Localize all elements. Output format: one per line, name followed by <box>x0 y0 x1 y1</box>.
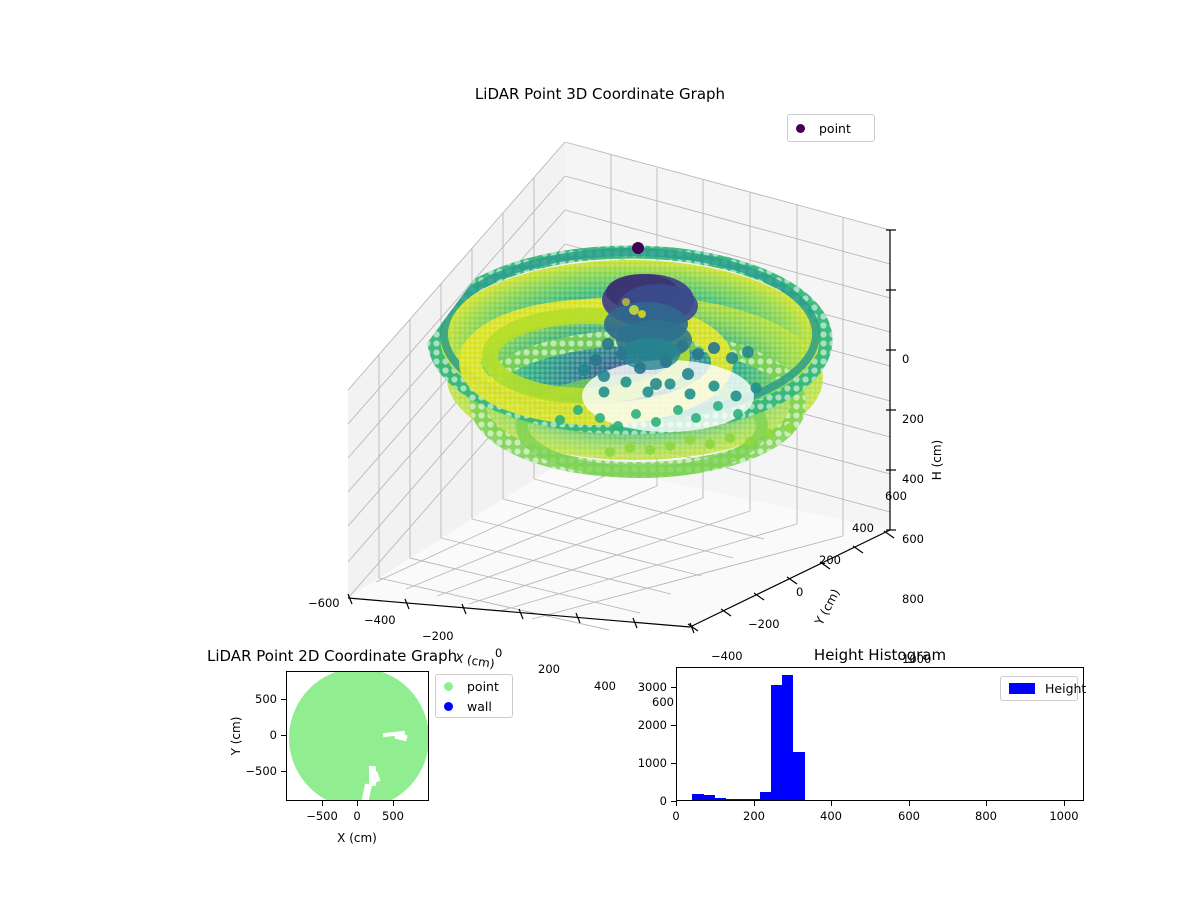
histogram-bar <box>760 792 771 800</box>
tick-label-hist-x-200: 200 <box>743 809 765 823</box>
histogram-title: Height Histogram <box>814 646 946 664</box>
x-axis-label: X (cm) <box>454 651 495 671</box>
tick-label-2d-x-500: 500 <box>382 809 404 823</box>
height-patch-icon <box>1009 683 1035 694</box>
legend-entry-height[interactable]: Height <box>1001 679 1077 699</box>
legend-label-point: point <box>467 679 499 694</box>
legend-label-point: point <box>819 121 851 136</box>
y-tick--400: −400 <box>711 649 743 663</box>
tick-label-2d-x--500: −500 <box>306 809 338 823</box>
z-tick-0: 0 <box>902 352 909 366</box>
tick-2d-y-500 <box>281 699 286 700</box>
x-tick-400: 400 <box>594 679 616 693</box>
tick-label-2d-y-0: 0 <box>270 728 277 742</box>
plot3d-title: LiDAR Point 3D Coordinate Graph <box>475 85 725 103</box>
z-axis-label: H (cm) <box>930 440 944 481</box>
tick-hist-x-200 <box>754 801 755 806</box>
histogram-bar <box>782 675 793 800</box>
tick-hist-y-2000 <box>671 725 676 726</box>
x-tick--200: −200 <box>422 629 454 643</box>
legend-label-height: Height <box>1045 681 1086 696</box>
x-tick--400: −400 <box>364 613 396 627</box>
y-tick-200: 200 <box>819 553 841 567</box>
point-marker-icon <box>796 124 805 133</box>
tick-label-hist-y-3000: 3000 <box>638 680 667 694</box>
tick-label-hist-y-0: 0 <box>660 794 667 808</box>
z-tick-800: 800 <box>902 592 924 606</box>
point-marker-icon <box>444 682 453 691</box>
tick-2d-x--500 <box>322 801 323 806</box>
tick-2d-x-0 <box>357 801 358 806</box>
plot2d-y-axis-label: Y (cm) <box>229 717 243 756</box>
histogram-bar <box>737 799 748 800</box>
tick-label-hist-x-400: 400 <box>820 809 842 823</box>
tick-label-2d-x-0: 0 <box>353 809 360 823</box>
tick-hist-y-3000 <box>671 687 676 688</box>
x-tick-200: 200 <box>538 662 560 676</box>
tick-label-hist-y-2000: 2000 <box>638 718 667 732</box>
tick-label-hist-x-0: 0 <box>672 809 679 823</box>
plot3d-legend[interactable]: point <box>787 114 875 142</box>
y-tick-0: 0 <box>796 585 803 599</box>
tick-label-hist-x-800: 800 <box>975 809 997 823</box>
wall-marker-icon <box>444 702 453 711</box>
lidar-2d-axes[interactable] <box>286 671 429 801</box>
tick-2d-x-500 <box>393 801 394 806</box>
tick-label-hist-y-1000: 1000 <box>638 756 667 770</box>
lidar-3d-canvas <box>330 130 930 650</box>
z-tick-200: 200 <box>902 412 924 426</box>
histogram-bar <box>771 685 782 800</box>
outlier-point <box>632 242 644 254</box>
x-tick-600: 600 <box>652 695 674 709</box>
x-tick-0: 0 <box>495 646 502 660</box>
legend-entry-point[interactable]: point <box>788 118 874 138</box>
tick-hist-x-1000 <box>1064 801 1065 806</box>
plot2d-legend[interactable]: point wall <box>435 674 513 718</box>
z-tick-400: 400 <box>902 472 924 486</box>
tick-2d-y--500 <box>281 771 286 772</box>
lidar-3d-axes[interactable]: 0 200 400 600 800 1000 H (cm) −600 −400 … <box>330 130 930 650</box>
tick-label-hist-x-600: 600 <box>898 809 920 823</box>
y-tick-400: 400 <box>852 521 874 535</box>
y-tick-600: 600 <box>885 489 907 503</box>
point-cloud <box>434 242 826 472</box>
legend-label-wall: wall <box>467 699 492 714</box>
legend-entry-point-2d[interactable]: point <box>436 676 512 696</box>
plot2d-x-axis-label: X (cm) <box>337 831 377 845</box>
tick-hist-x-600 <box>909 801 910 806</box>
histogram-bar <box>715 798 726 800</box>
histogram-legend[interactable]: Height <box>1000 676 1078 701</box>
tick-hist-x-0 <box>676 801 677 806</box>
matplotlib-figure: LiDAR Point 3D Coordinate Graph <box>0 0 1200 900</box>
histogram-bar <box>726 799 737 800</box>
z-tick-600: 600 <box>902 532 924 546</box>
tick-label-hist-x-1000: 1000 <box>1049 809 1078 823</box>
tick-label-2d-y-500: 500 <box>255 692 277 706</box>
tick-label-2d-y--500: −500 <box>245 764 277 778</box>
point-disk <box>289 671 429 801</box>
tick-hist-x-800 <box>986 801 987 806</box>
histogram-bar <box>749 799 760 800</box>
legend-entry-wall-2d[interactable]: wall <box>436 696 512 716</box>
plot2d-title: LiDAR Point 2D Coordinate Graph <box>207 647 457 665</box>
histogram-bar <box>793 752 804 800</box>
tick-hist-y-1000 <box>671 763 676 764</box>
histogram-bar <box>692 794 703 800</box>
tick-hist-x-400 <box>831 801 832 806</box>
x-tick--600: −600 <box>308 596 340 610</box>
histogram-bar <box>704 795 715 800</box>
y-tick--200: −200 <box>748 617 780 631</box>
tick-2d-y-0 <box>281 735 286 736</box>
